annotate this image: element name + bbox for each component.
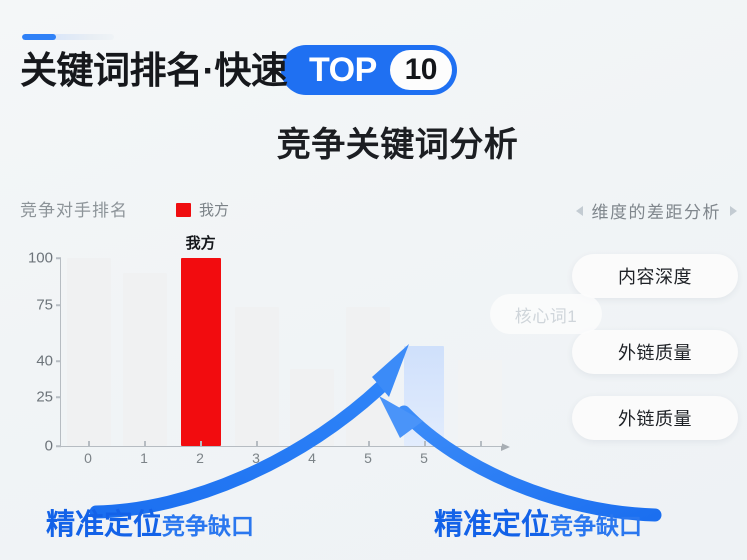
progress-bar-fill: [22, 34, 56, 40]
bar-slot: [117, 258, 173, 446]
x-axis-tick-label: 5: [340, 450, 396, 472]
top-rank-badge: TOP 10: [281, 45, 457, 95]
bar[interactable]: [290, 369, 334, 446]
triangle-right-icon[interactable]: [730, 206, 737, 216]
bar-slot: [340, 258, 396, 446]
bar-group: 我方: [61, 258, 508, 446]
caption-left-soft: 竞争缺口: [162, 507, 254, 541]
y-axis-tick-label: 25: [36, 389, 53, 406]
dimension-pill-label: 内容深度: [618, 263, 692, 289]
bar-slot: [61, 258, 117, 446]
x-axis-tick-label: 0: [60, 450, 116, 472]
y-axis-tick-label: 100: [28, 250, 53, 267]
x-axis-tick-label: 3: [228, 450, 284, 472]
badge-number-chip: 10: [390, 50, 452, 90]
caption-right-soft: 竞争缺口: [550, 507, 642, 541]
dimension-pill-backlink-quality-2[interactable]: 外链质量: [572, 396, 738, 440]
competitor-rank-chart: 100 75 40 25 0 我方: [18, 248, 518, 480]
progress-bar: [22, 34, 114, 40]
x-axis-tick-label: 2: [172, 450, 228, 472]
bar-target[interactable]: [404, 346, 444, 446]
chart-plot-area: 100 75 40 25 0 我方: [60, 258, 508, 447]
dimension-pill-content-depth[interactable]: 内容深度: [572, 254, 738, 298]
page-title: 关键词排名·快速: [20, 44, 287, 96]
dimension-gap-header: 维度的差距分析: [576, 198, 738, 223]
x-axis-ticks: 0 1 2 3 4 5 5: [60, 450, 508, 472]
chart-caption: 竞争对手排名: [20, 196, 128, 221]
bar[interactable]: [67, 258, 111, 446]
badge-word: TOP: [309, 53, 390, 87]
slide-canvas: TOP 10 关键词排名·快速 竞争关键词分析 竞争对手排名 我方 维度的差距分…: [0, 0, 747, 560]
bar[interactable]: [346, 307, 390, 446]
chart-legend: 我方: [176, 199, 229, 220]
bar-slot: [452, 258, 508, 446]
x-axis-tick-label: 1: [116, 450, 172, 472]
bar-label-mine: 我方: [186, 232, 216, 253]
page-subtitle: 竞争关键词分析: [0, 117, 747, 166]
caption-right-strong: 精准定位: [434, 501, 550, 543]
x-axis-tick-label: 4: [284, 450, 340, 472]
x-axis-tick-label: 5: [396, 450, 452, 472]
x-axis-tick-spacer: [452, 450, 508, 472]
triangle-left-icon[interactable]: [576, 206, 583, 216]
core-keyword-ghost-pill[interactable]: 核心词1: [490, 294, 602, 334]
bar[interactable]: [458, 360, 502, 446]
bar-slot-target: [396, 258, 452, 446]
bar[interactable]: [123, 273, 167, 446]
caption-left-strong: 精准定位: [46, 501, 162, 543]
y-axis-tick-label: 0: [45, 438, 53, 455]
y-axis-tick-label: 75: [36, 297, 53, 314]
caption-left: 精准定位 竞争缺口: [46, 501, 254, 543]
legend-swatch-mine: [176, 203, 191, 217]
badge-number: 10: [405, 55, 437, 85]
bar-mine[interactable]: [181, 258, 221, 446]
bar-slot: [285, 258, 341, 446]
core-keyword-ghost-label: 核心词1: [515, 302, 577, 327]
y-axis-tick-label: 40: [36, 353, 53, 370]
dimension-gap-label: 维度的差距分析: [592, 198, 722, 223]
page-title-text: 关键词排名·快速: [20, 52, 287, 89]
bar-slot-mine: 我方: [173, 258, 229, 446]
bar[interactable]: [235, 307, 279, 446]
bar-slot: [229, 258, 285, 446]
dimension-pill-label: 外链质量: [618, 405, 692, 431]
legend-label-mine: 我方: [199, 199, 229, 220]
dimension-pill-backlink-quality-1[interactable]: 外链质量: [572, 330, 738, 374]
caption-right: 精准定位 竞争缺口: [434, 501, 642, 543]
dimension-pill-label: 外链质量: [618, 339, 692, 365]
